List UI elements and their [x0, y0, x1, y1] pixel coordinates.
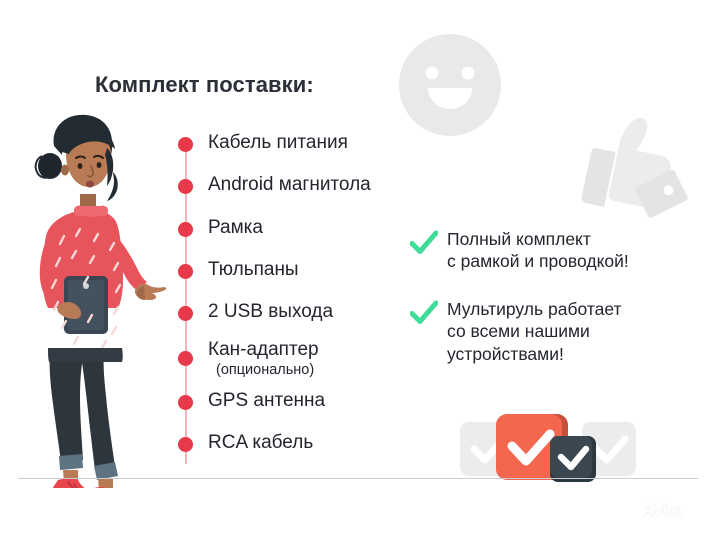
page-title: Комплект поставки:: [95, 72, 314, 98]
list-item-label: 2 USB выхода: [208, 301, 333, 322]
list-item-label: Кабель питания: [208, 132, 348, 153]
list-item-label: RCA кабель: [208, 432, 313, 453]
bullet-dot: [178, 351, 193, 366]
feature-line: со всеми нашими: [447, 320, 622, 342]
bullet-dot: [178, 264, 193, 279]
thumbs-up-icon: [572, 104, 694, 220]
feature-text: Полный комплект с рамкой и проводкой!: [447, 228, 629, 273]
list-item-label: GPS антенна: [208, 390, 325, 411]
list-item: Тюльпаны: [178, 259, 438, 280]
feature-line: с рамкой и проводкой!: [447, 250, 629, 272]
ground-line: [18, 478, 698, 479]
feature-block: Мультируль работает со всеми нашими устр…: [410, 298, 622, 365]
avito-circles-logo: [622, 502, 639, 519]
list-item: GPS антенна: [178, 390, 438, 411]
list-item: Кан-адаптер (опционально): [178, 339, 438, 378]
list-item-label: Рамка: [208, 217, 263, 238]
list-item-label: Кан-адаптер (опционально): [208, 339, 319, 378]
list-item: Рамка: [178, 217, 438, 238]
list-item: Android магнитола: [178, 174, 438, 195]
list-item-label: Тюльпаны: [208, 259, 299, 280]
bullet-dot: [178, 306, 193, 321]
woman-pointing-illustration: [18, 108, 178, 488]
feature-block: Полный комплект с рамкой и проводкой!: [410, 228, 629, 273]
smiley-face-icon: [398, 33, 502, 137]
check-icon: [410, 300, 438, 326]
list-item: Кабель питания: [178, 132, 438, 153]
bullet-dot: [178, 395, 193, 410]
avito-watermark: Avito: [622, 500, 683, 520]
feature-line: Мультируль работает: [447, 298, 622, 320]
list-item-sublabel: (опционально): [216, 362, 319, 378]
bullet-dot: [178, 437, 193, 452]
checkbox-cards-icon: [458, 408, 638, 488]
feature-text: Мультируль работает со всеми нашими устр…: [447, 298, 622, 365]
contents-list: Кабель питания Android магнитола Рамка Т…: [178, 132, 438, 453]
feature-line: Полный комплект: [447, 228, 629, 250]
avito-watermark-text: Avito: [642, 500, 683, 520]
poster-canvas: Комплект поставки: Кабель питания Androi…: [0, 0, 720, 540]
bullet-dot: [178, 222, 193, 237]
check-icon: [410, 230, 438, 256]
list-item: 2 USB выхода: [178, 301, 438, 322]
list-item-label: Android магнитола: [208, 174, 371, 195]
list-item: RCA кабель: [178, 432, 438, 453]
bullet-dot: [178, 179, 193, 194]
list-item-title: Кан-адаптер: [208, 339, 319, 360]
bullet-dot: [178, 137, 193, 152]
feature-line: устройствами!: [447, 343, 622, 365]
